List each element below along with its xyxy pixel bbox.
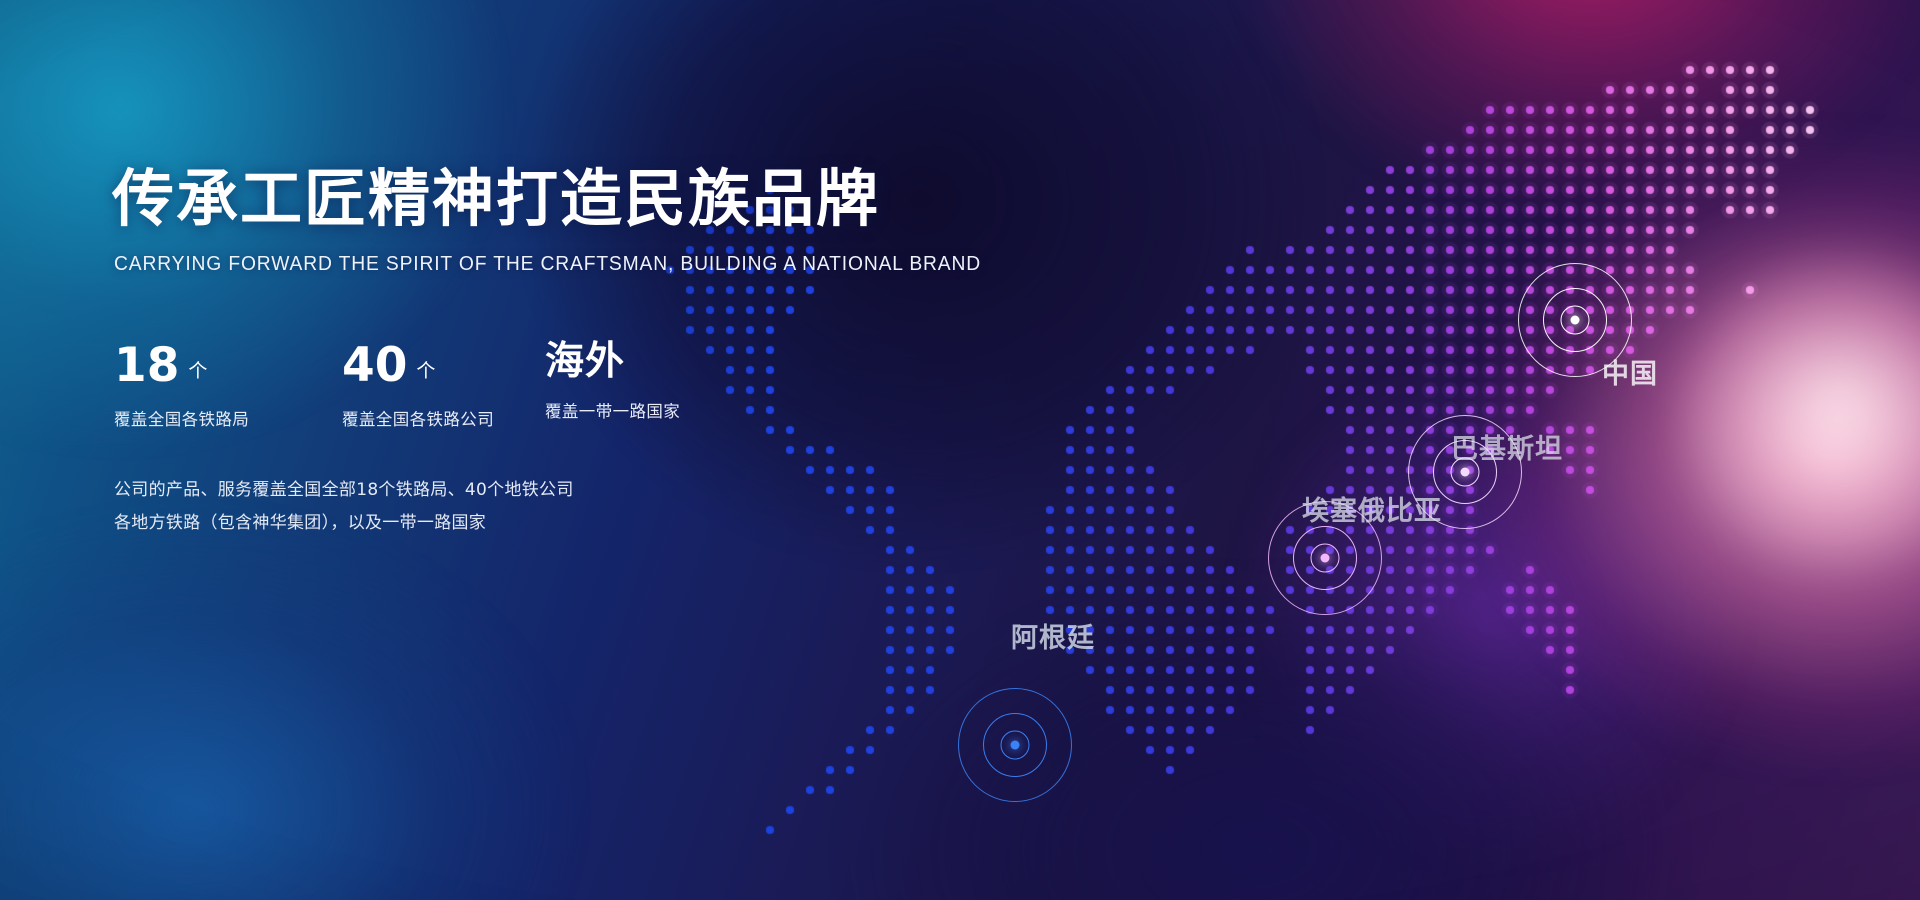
page-subtitle: CARRYING FORWARD THE SPIRIT OF THE CRAFT… <box>114 252 981 276</box>
stat-headline: 40 个 <box>342 342 545 389</box>
stat-item: 18 个 覆盖全国各铁路局 <box>114 342 342 430</box>
stat-value: 40 <box>342 342 407 389</box>
stat-item: 海外 覆盖一带一路国家 <box>545 342 680 422</box>
stat-caption: 覆盖全国各铁路局 <box>114 406 342 430</box>
stat-headline: 18 个 <box>114 342 342 389</box>
description-block: 公司的产品、服务覆盖全国全部18个铁路局、40个地铁公司 各地方铁路（包含神华集… <box>114 474 574 540</box>
stat-unit: 个 <box>188 356 207 383</box>
stat-caption: 覆盖一带一路国家 <box>545 398 680 422</box>
stat-headline: 海外 <box>545 342 680 381</box>
stat-value: 18 <box>114 342 179 389</box>
vignette-overlay <box>0 0 1920 900</box>
description-line: 公司的产品、服务覆盖全国全部18个铁路局、40个地铁公司 <box>114 474 574 507</box>
stat-unit: 个 <box>416 356 435 383</box>
stat-item: 40 个 覆盖全国各铁路公司 <box>342 342 545 430</box>
page-title: 传承工匠精神打造民族品牌 <box>112 168 880 230</box>
description-line: 各地方铁路（包含神华集团），以及一带一路国家 <box>114 507 574 540</box>
stats-row: 18 个 覆盖全国各铁路局 40 个 覆盖全国各铁路公司 海外 覆盖一带一路国家 <box>114 342 680 430</box>
stat-caption: 覆盖全国各铁路公司 <box>342 406 545 430</box>
hero-banner: 中国巴基斯坦埃塞俄比亚阿根廷 传承工匠精神打造民族品牌 CARRYING FOR… <box>0 0 1920 900</box>
stat-value: 海外 <box>545 342 625 381</box>
